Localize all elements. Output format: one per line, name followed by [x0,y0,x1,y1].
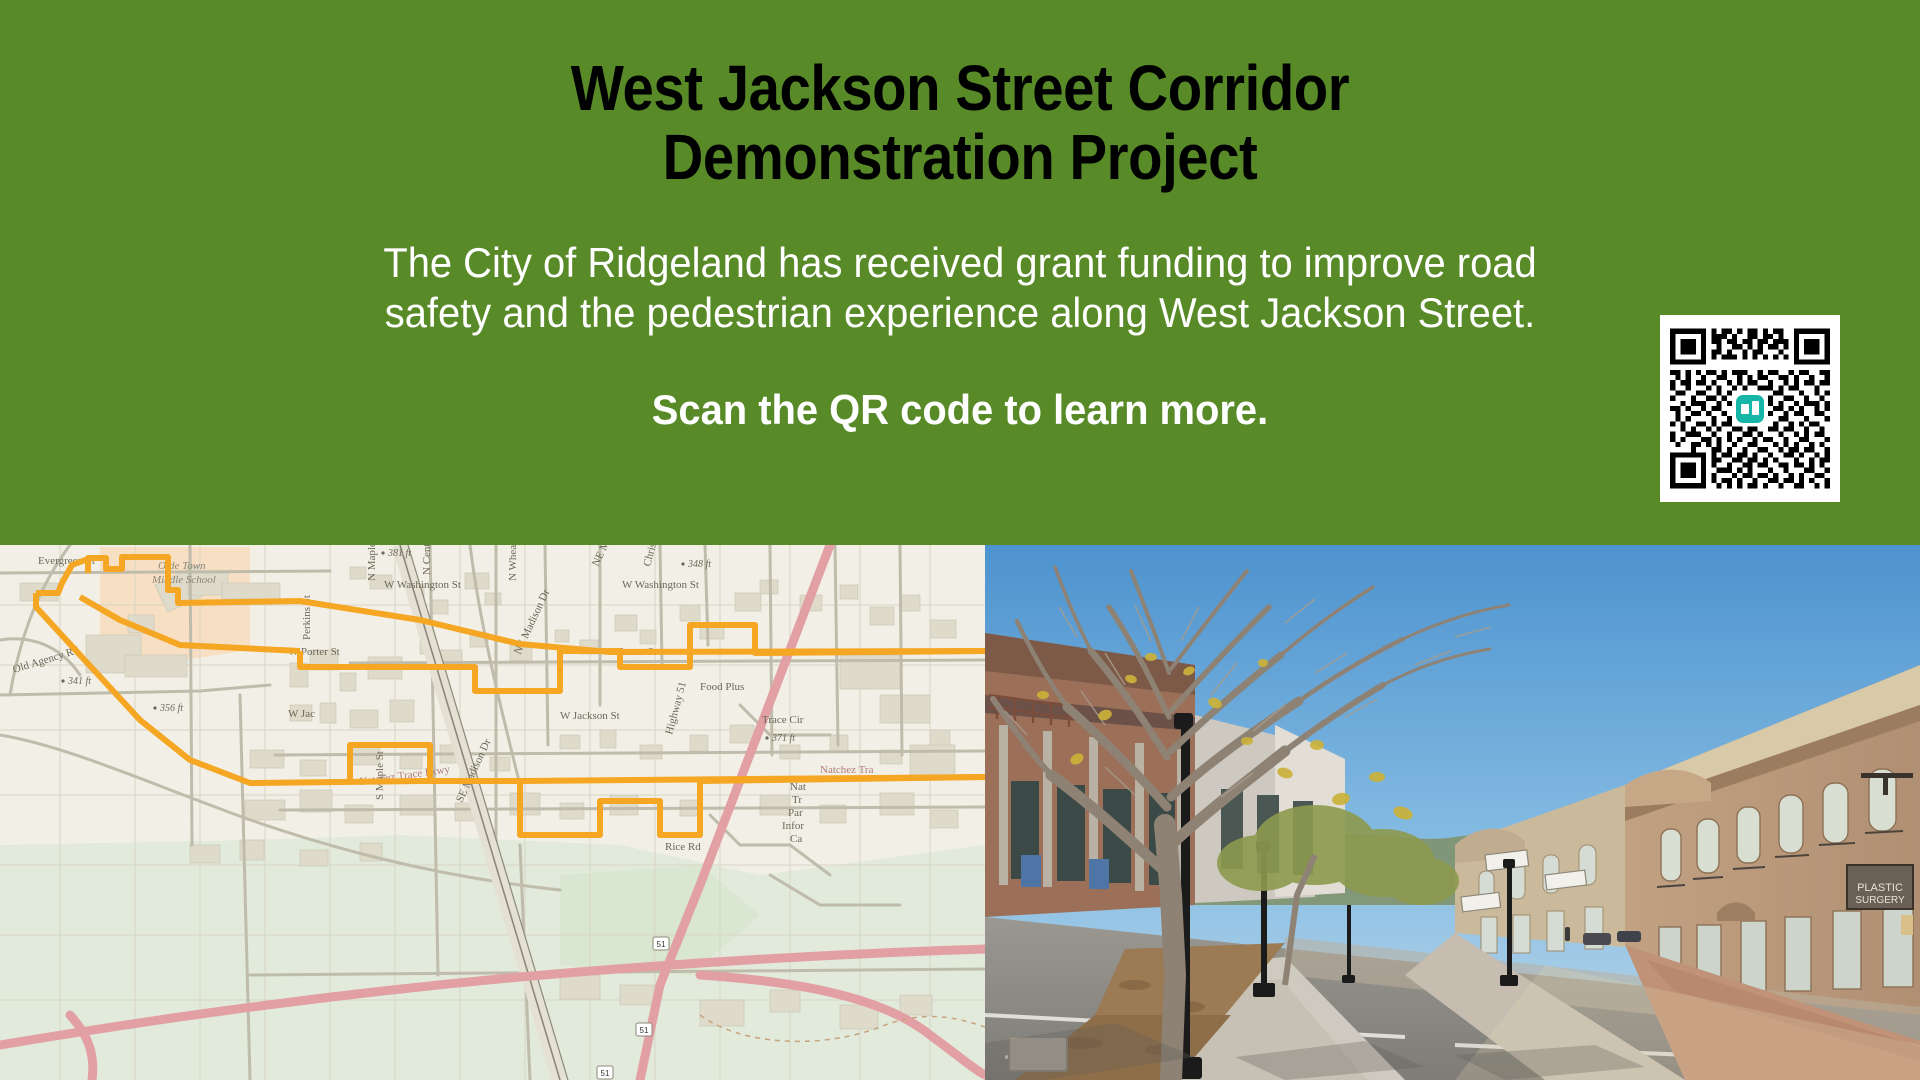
svg-text:51: 51 [601,1069,610,1078]
streetscape-photo: PLASTIC SURGERY [985,545,1920,1080]
bottom-row: 51 51 51 Evergreen St Olde Town Middle S… [0,545,1920,1080]
svg-text:PLASTIC: PLASTIC [1857,882,1903,894]
svg-text:W Jackson St: W Jackson St [560,710,620,722]
svg-text:Par: Par [788,807,803,819]
poster-root: West Jackson Street Corridor Demonstrati… [0,0,1920,1080]
photo-canvas: PLASTIC SURGERY [985,545,1920,1080]
svg-text:W Washington St: W Washington St [622,579,699,591]
svg-text:Rice Rd: Rice Rd [665,841,701,853]
svg-text:51: 51 [657,940,666,949]
document-scan-icon [1736,395,1764,423]
qr-code[interactable] [1660,315,1840,502]
title-line-2: Demonstration Project [115,123,1805,192]
svg-text:SURGERY: SURGERY [1855,895,1905,906]
svg-text:N Central Ave: N Central Ave [421,545,433,575]
svg-text:N Maple St: N Maple St [366,545,378,581]
svg-text:381 ft: 381 ft [387,548,411,559]
svg-text:N Wheatley St: N Wheatley St [507,545,519,581]
svg-text:356 ft: 356 ft [159,703,183,714]
subtitle-text: The City of Ridgeland has received grant… [48,238,1872,337]
svg-text:51: 51 [640,1026,649,1035]
corridor-map[interactable]: 51 51 51 Evergreen St Olde Town Middle S… [0,545,985,1080]
svg-text:Infor: Infor [782,820,804,832]
svg-text:Natchez Tra: Natchez Tra [820,764,874,776]
subtitle-line-1: The City of Ridgeland has received grant… [383,239,1536,286]
title-line-1: West Jackson Street Corridor [571,52,1349,124]
subtitle-line-2: safety and the pedestrian experience alo… [48,288,1872,338]
svg-text:Ca: Ca [790,833,802,845]
header-band: West Jackson Street Corridor Demonstrati… [0,0,1920,545]
svg-text:Middle School: Middle School [151,574,216,586]
cta-text: Scan the QR code to learn more. [48,385,1872,435]
svg-text:Tr: Tr [792,794,802,806]
svg-text:W Washington St: W Washington St [384,579,461,591]
svg-text:348 ft: 348 ft [687,559,711,570]
page-title: West Jackson Street Corridor Demonstrati… [115,54,1805,192]
map-canvas: 51 51 51 Evergreen St Olde Town Middle S… [0,545,985,1080]
svg-text:Nat: Nat [790,781,806,793]
qr-center-logo [1733,392,1767,426]
svg-text:371 ft: 371 ft [771,733,795,744]
svg-text:W Jac: W Jac [288,708,315,720]
svg-text:Trace Cir: Trace Cir [762,714,804,726]
svg-text:Food Plus: Food Plus [700,681,744,693]
svg-text:341 ft: 341 ft [67,676,91,687]
